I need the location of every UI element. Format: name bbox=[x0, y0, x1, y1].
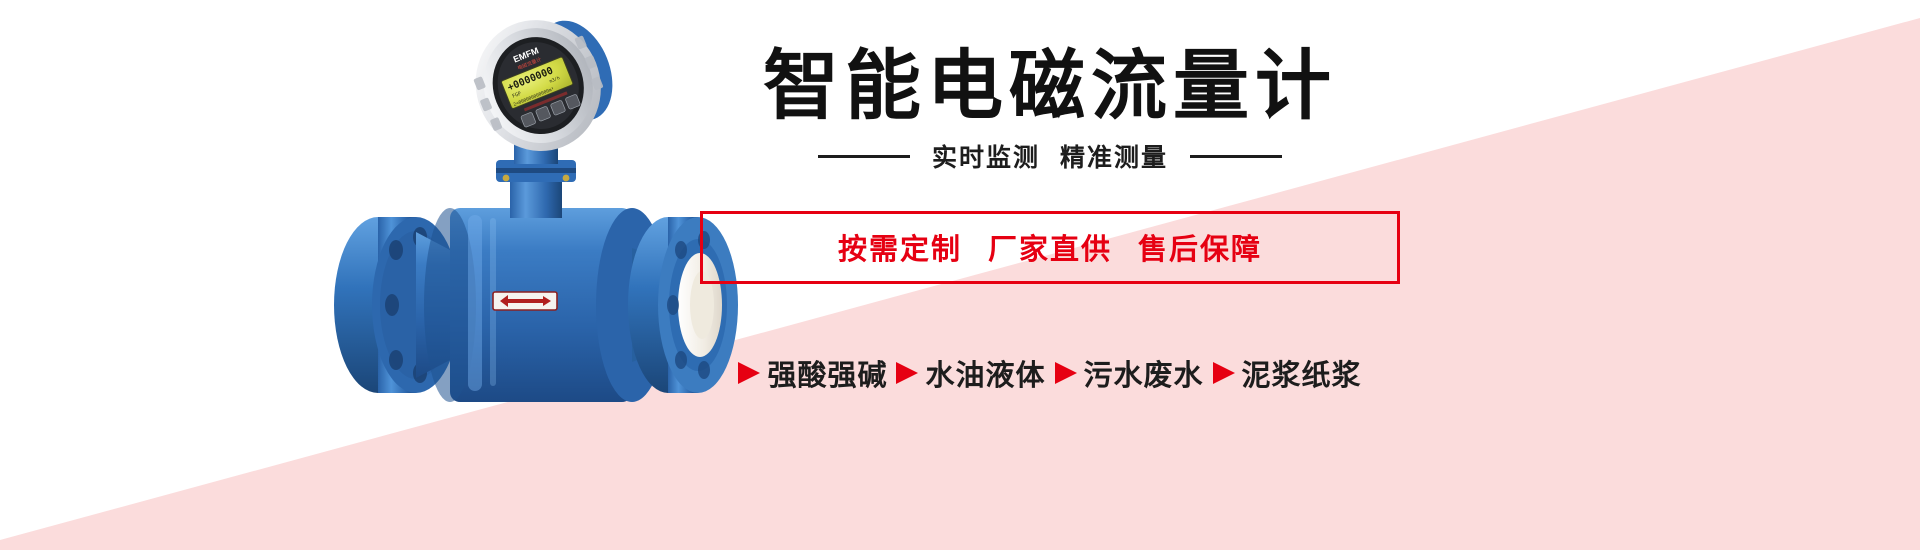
promo-badge-box: 按需定制厂家直供售后保障 bbox=[700, 211, 1400, 284]
subtitle-rule-right bbox=[1190, 155, 1282, 158]
subtitle-right: 精准测量 bbox=[1060, 144, 1168, 172]
right-arrow-icon bbox=[1055, 362, 1077, 384]
feature-label: 水油液体 bbox=[925, 352, 1045, 394]
product-banner: EMFM 电磁流量计 +0000000 FGP m3/h 2=000000000… bbox=[0, 0, 1920, 550]
feature-item: 水油液体 bbox=[896, 352, 1045, 394]
feature-list: 强酸强碱 水油液体 污水废水 泥浆纸浆 bbox=[600, 352, 1500, 394]
feature-label: 泥浆纸浆 bbox=[1242, 352, 1362, 394]
promo-item-3: 售后保障 bbox=[1138, 234, 1262, 266]
subtitle-row: 实时监测精准测量 bbox=[600, 138, 1500, 174]
right-arrow-icon bbox=[896, 362, 918, 384]
right-arrow-icon bbox=[738, 362, 760, 384]
feature-label: 污水废水 bbox=[1084, 352, 1204, 394]
subtitle-left: 实时监测 bbox=[932, 144, 1040, 172]
flow-direction-arrow-plate bbox=[493, 292, 557, 310]
promo-item-1: 按需定制 bbox=[838, 234, 962, 266]
subtitle-rule-left bbox=[818, 155, 910, 158]
feature-label: 强酸强碱 bbox=[767, 352, 887, 394]
feature-item: 强酸强碱 bbox=[738, 352, 887, 394]
subtitle-text: 实时监测精准测量 bbox=[932, 138, 1168, 174]
promo-text: 按需定制厂家直供售后保障 bbox=[838, 234, 1262, 266]
page-title: 智能电磁流量计 bbox=[600, 44, 1500, 130]
feature-item: 污水废水 bbox=[1055, 352, 1204, 394]
promo-item-2: 厂家直供 bbox=[988, 234, 1112, 266]
banner-copy: 智能电磁流量计 实时监测精准测量 按需定制厂家直供售后保障 强酸强碱 水油液体 … bbox=[600, 0, 1500, 550]
feature-item: 泥浆纸浆 bbox=[1213, 352, 1362, 394]
right-arrow-icon bbox=[1213, 362, 1235, 384]
